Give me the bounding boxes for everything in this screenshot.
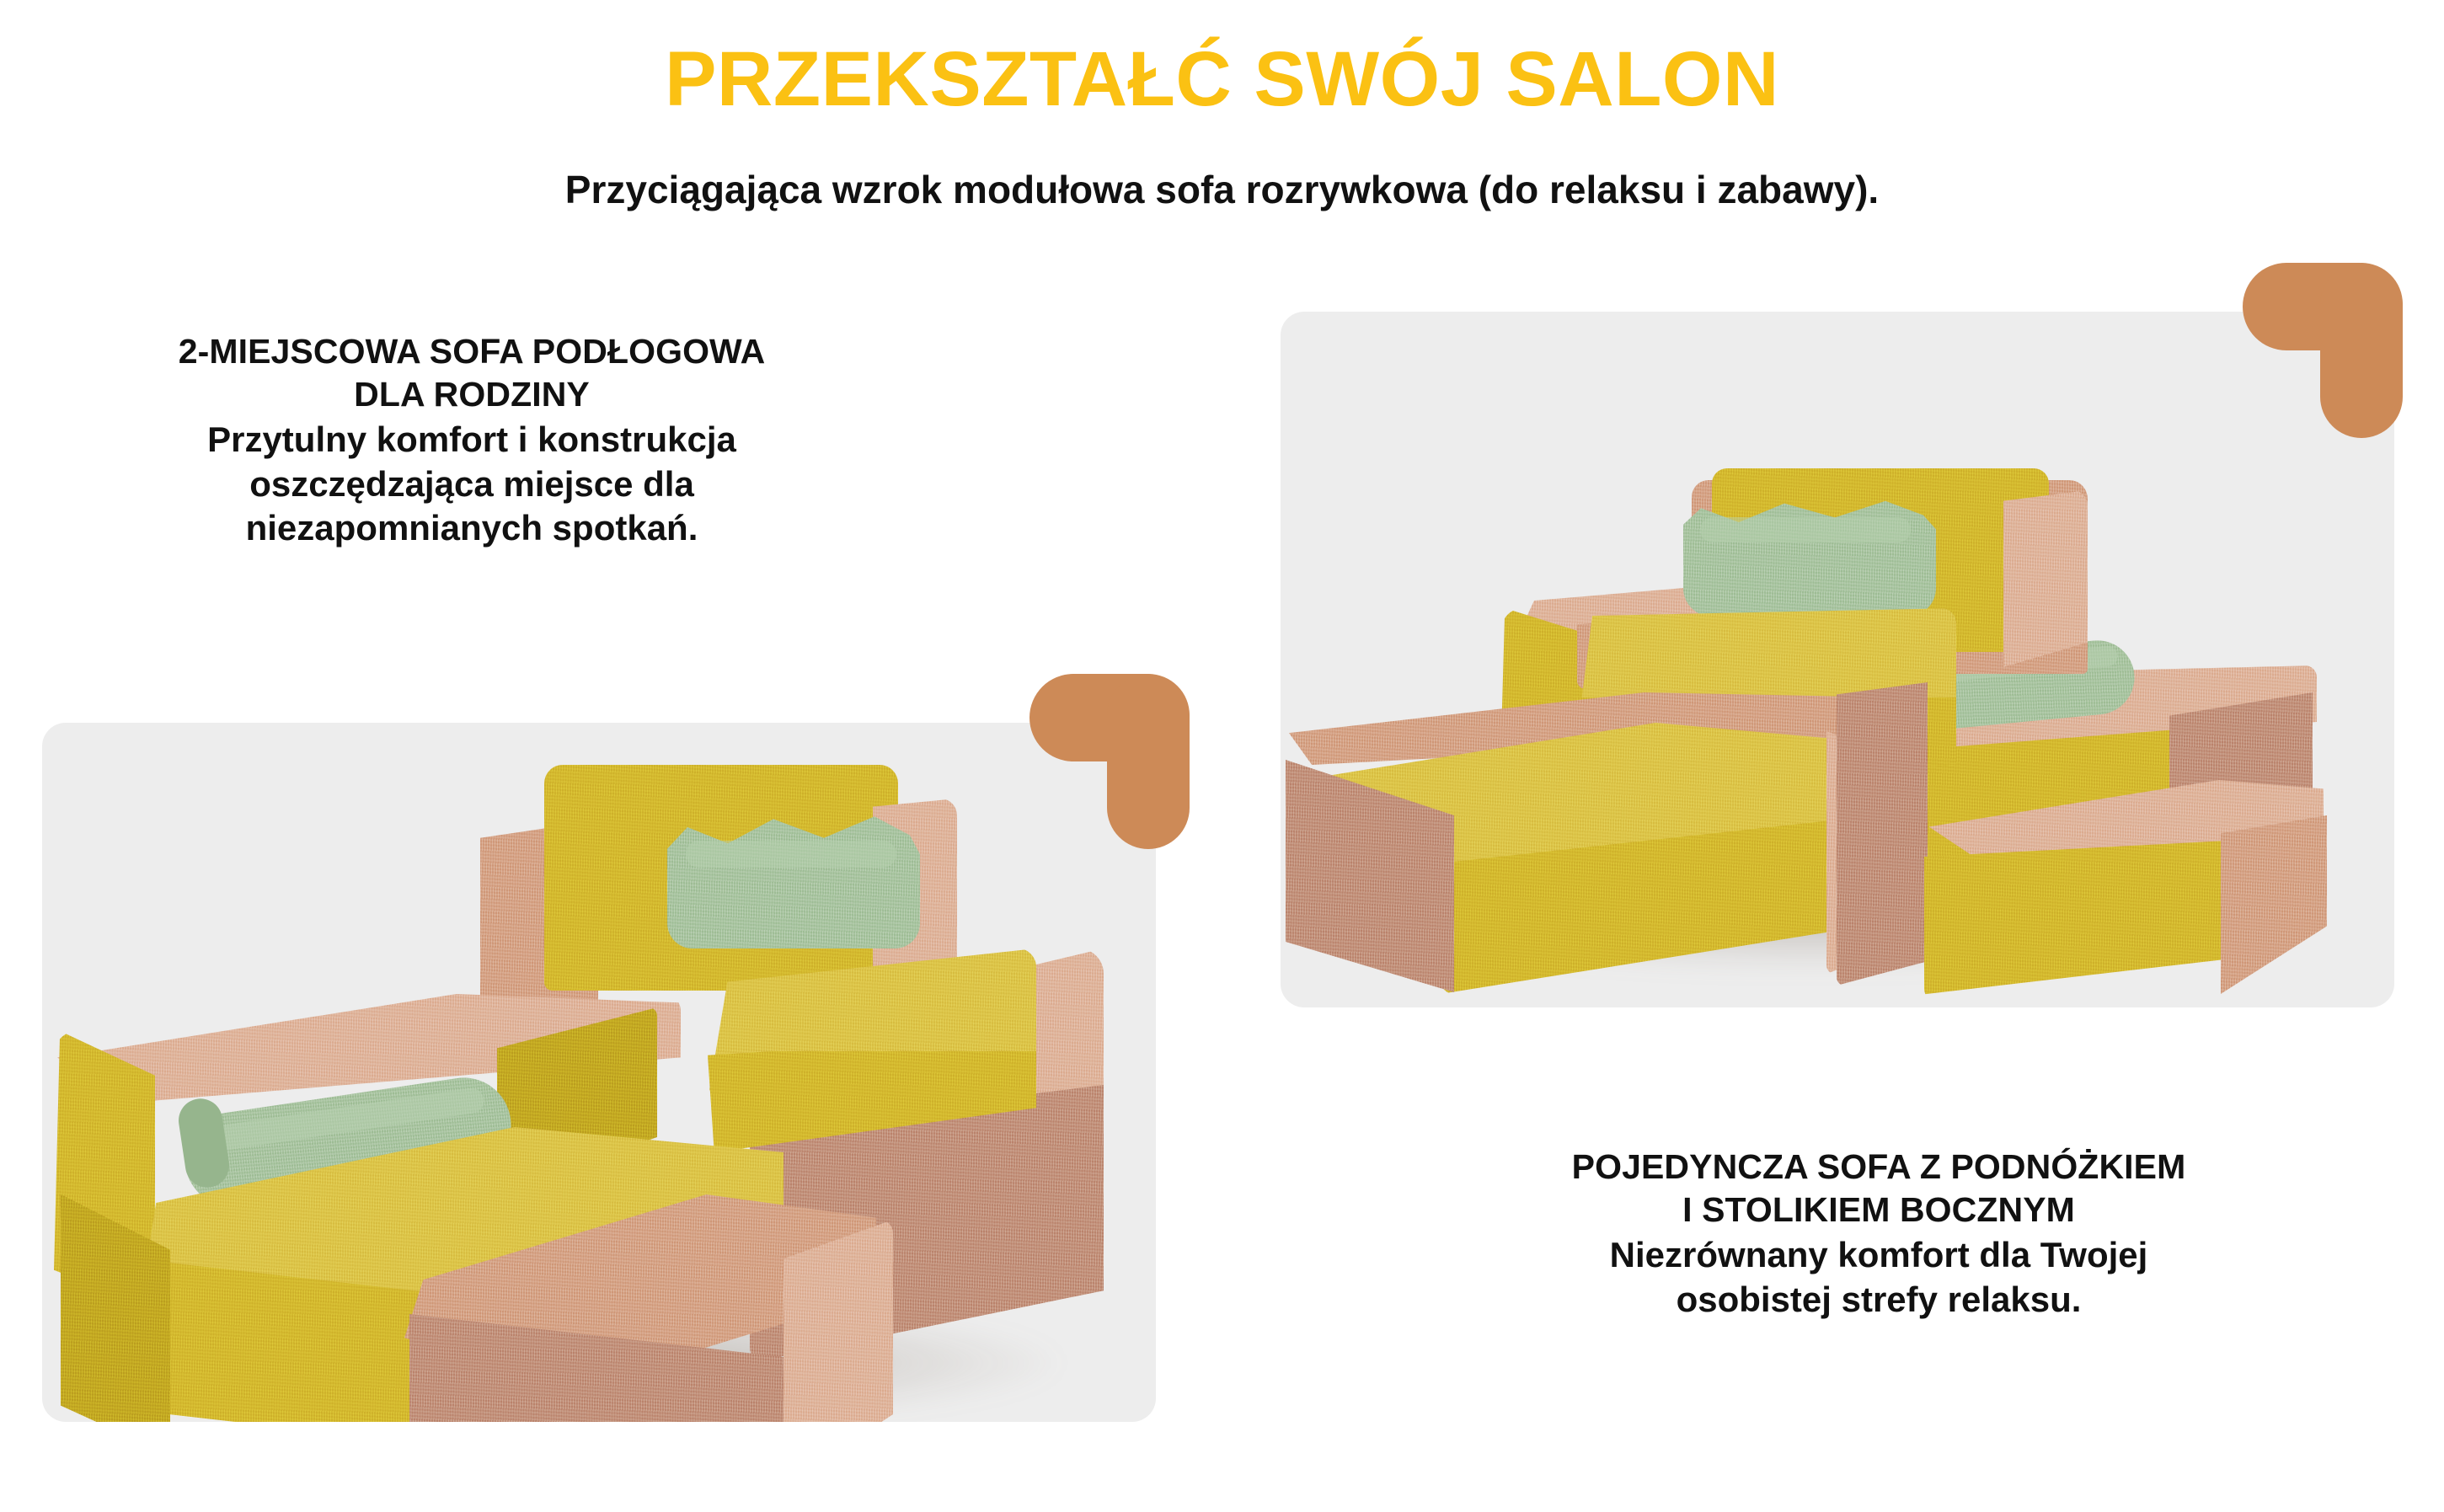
product-image-panel-single-sofa [1281,312,2394,1007]
feature-heading: POJEDYNCZA SOFA Z PODNÓŻKIEM I STOLIKIEM… [1432,1146,2325,1232]
right-module-right-face [2221,815,2327,994]
feature-body-line-3: niezapomnianych spotkań. [51,506,893,551]
armchair-back-right-wing [2003,490,2088,667]
feature-copy-single-sofa: POJEDYNCZA SOFA Z PODNÓŻKIEM I STOLIKIEM… [1432,1146,2325,1322]
page-title: PRZEKSZTAŁĆ SWÓJ SALON [0,40,2444,120]
feature-body: Przytulny komfort i konstrukcja oszczędz… [51,418,893,552]
infographic-canvas: PRZEKSZTAŁĆ SWÓJ SALON Przyciągająca wzr… [0,0,2444,1512]
bolster-back-highlight [686,841,896,868]
feature-heading-line-1: 2-MIEJSCOWA SOFA PODŁOGOWA [51,330,893,373]
module-divider-column [1837,682,1928,986]
bolster-left-end-cap [175,1096,232,1191]
page-subtitle: Przyciągająca wzrok modułowa sofa rozryw… [0,167,2444,213]
feature-body-line-2: oszczędzająca miejsce dla [51,462,893,507]
feature-body-line-1: Niezrównany komfort dla Twojej [1432,1233,2325,1278]
bolster-pillow-green-seat [1683,499,1936,617]
bolster-seat-highlight [1700,517,1911,542]
feature-heading-line-2: I STOLIKIEM BOCZNYM [1432,1189,2325,1232]
feature-body-line-1: Przytulny komfort i konstrukcja [51,418,893,462]
product-photo-single-sofa [1281,312,2394,1007]
feature-body: Niezrównany komfort dla Twojej osobistej… [1432,1233,2325,1322]
feature-copy-two-seat-sofa: 2-MIEJSCOWA SOFA PODŁOGOWA DLA RODZINY P… [51,330,893,551]
feature-body-line-2: osobistej strefy relaksu. [1432,1278,2325,1322]
right-module-front [1924,841,2227,1001]
feature-heading-line-1: POJEDYNCZA SOFA Z PODNÓŻKIEM [1432,1146,2325,1189]
product-image-panel-two-seat-sofa [42,723,1156,1422]
product-photo-two-seat-sofa [42,723,1156,1422]
feature-heading-line-2: DLA RODZINY [51,373,893,416]
feature-heading: 2-MIEJSCOWA SOFA PODŁOGOWA DLA RODZINY [51,330,893,416]
